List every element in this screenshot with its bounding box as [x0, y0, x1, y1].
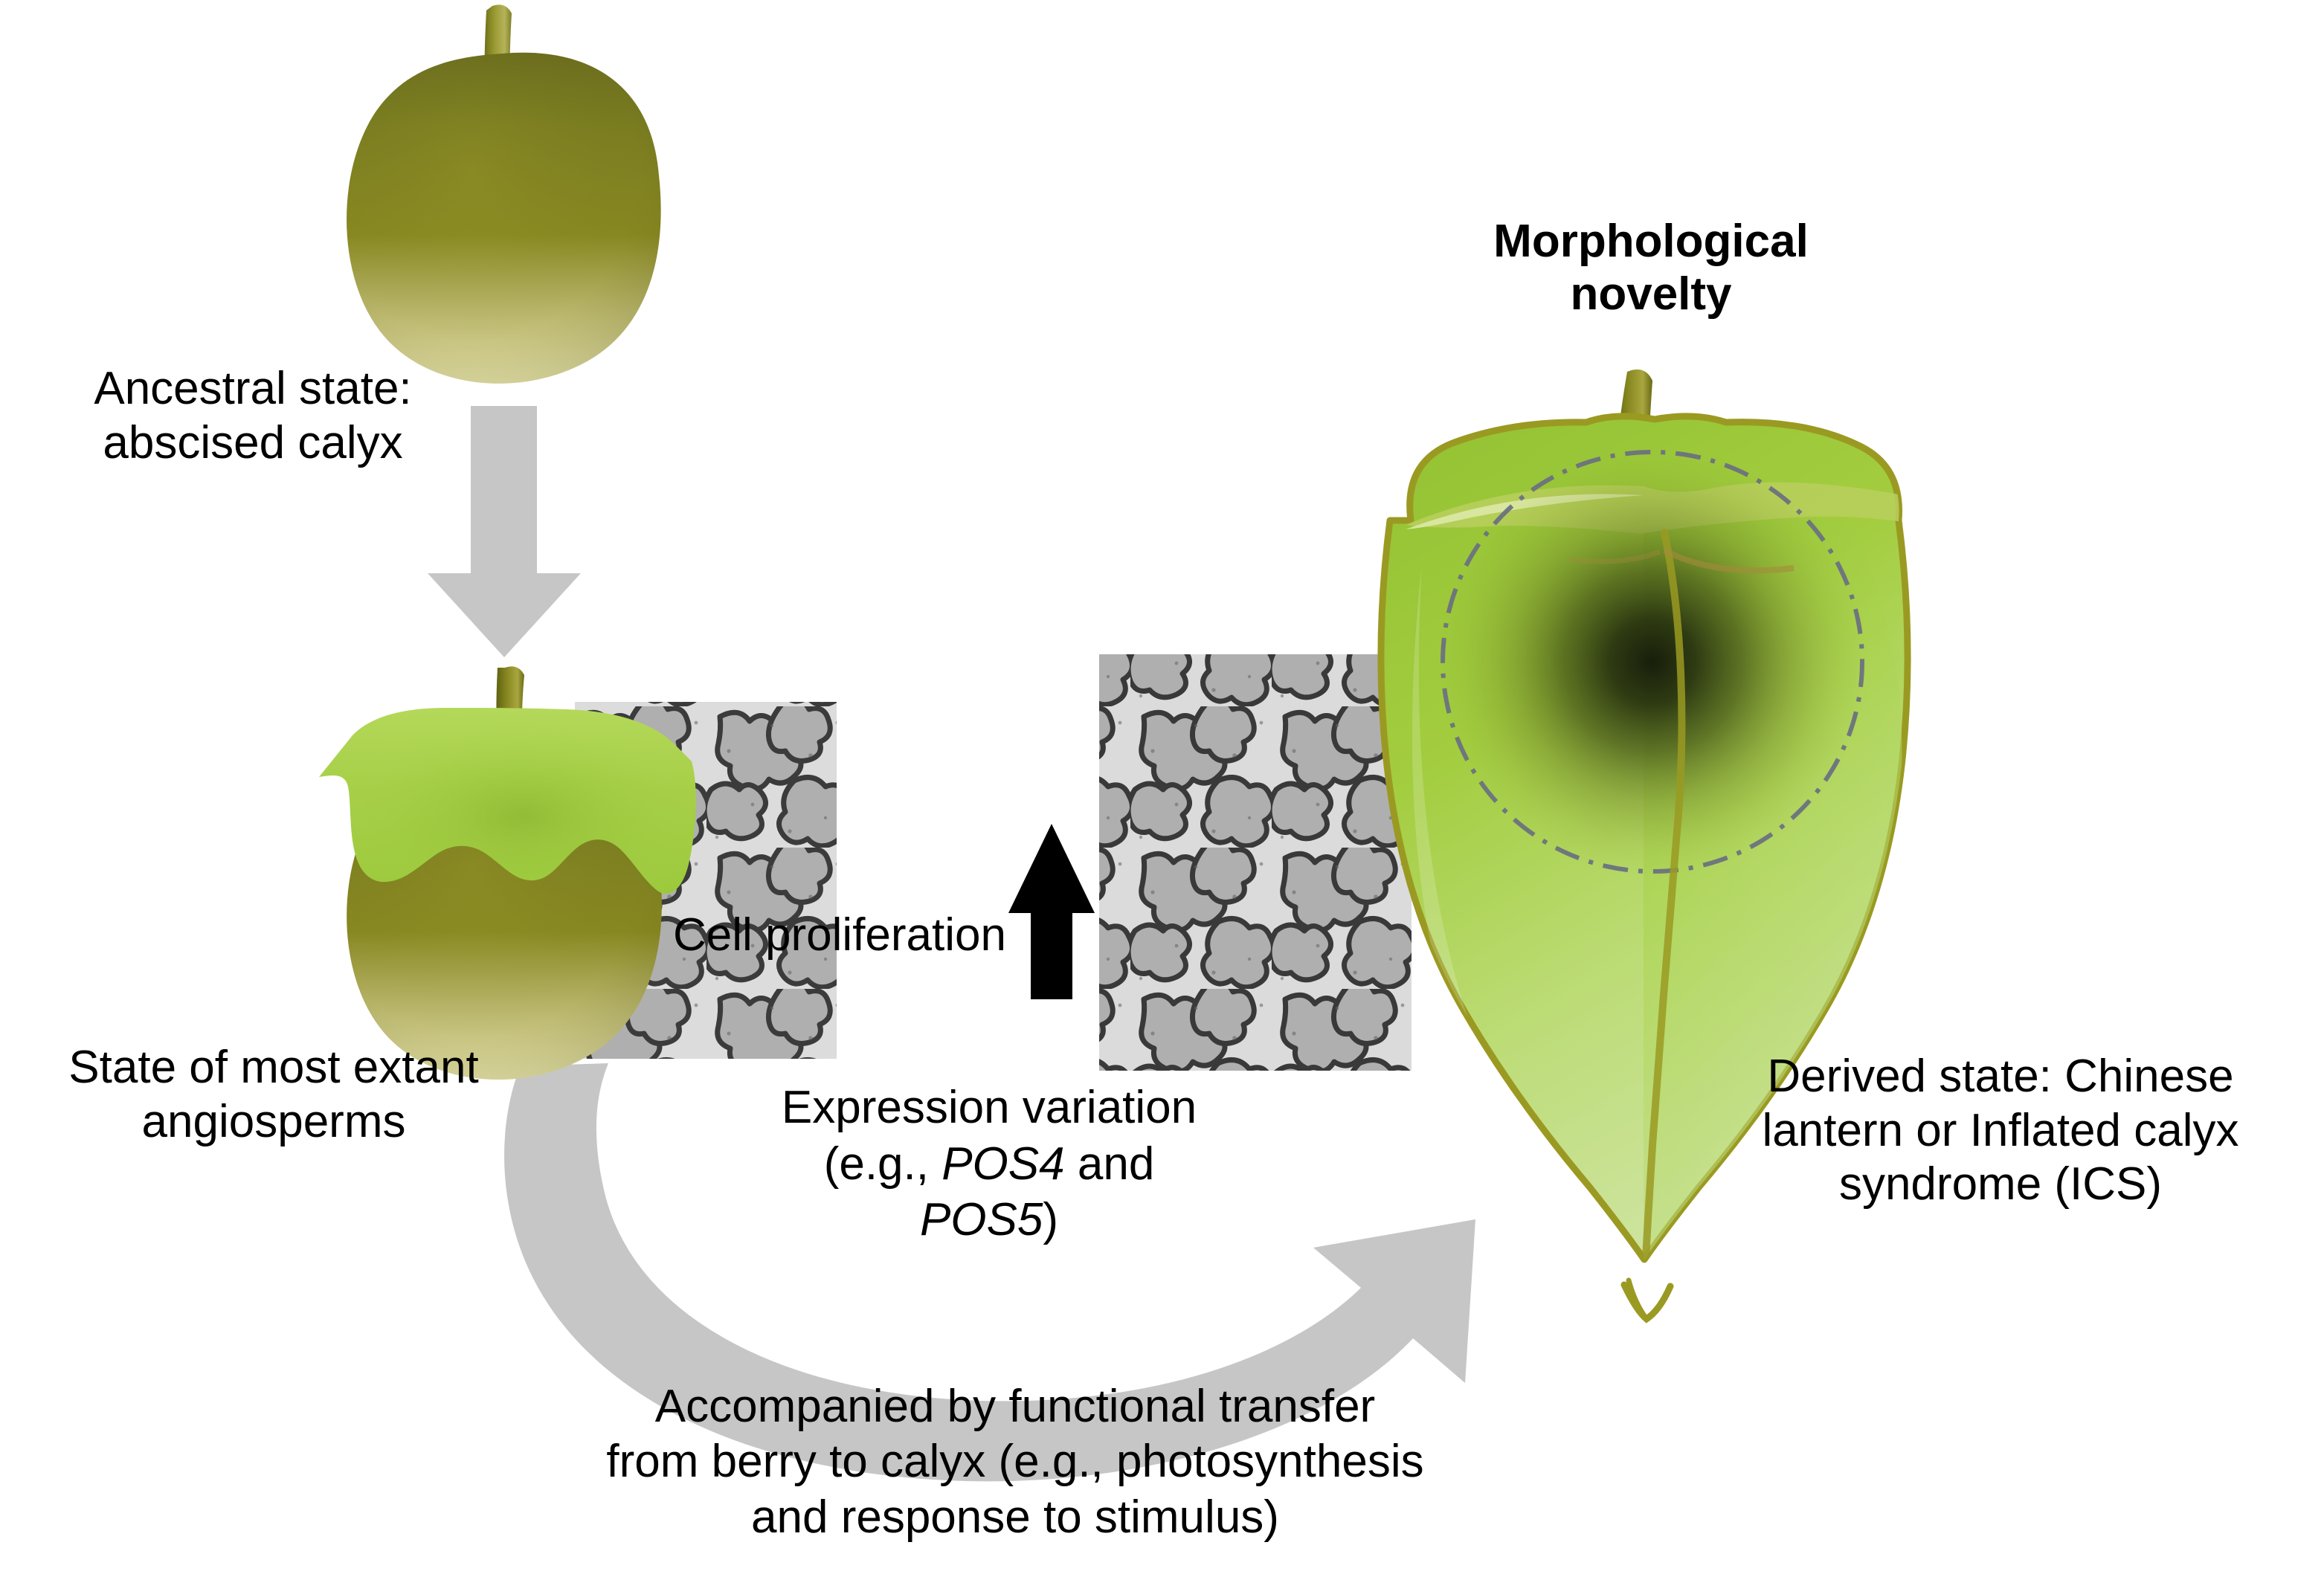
expression-variation-prefix: (e.g., [824, 1138, 942, 1190]
label-derived-state: Derived state: Chinese lantern or Inflat… [1733, 1050, 2268, 1212]
expression-variation-conjunction: and [1065, 1138, 1155, 1190]
gene-name-pos5: POS5 [920, 1194, 1043, 1245]
diagram-graphics [0, 0, 2324, 1577]
ancestral-berry [347, 4, 661, 384]
label-extant-state: State of most extant angiosperms [13, 1041, 534, 1149]
label-functional-transfer: Accompanied by functional transfer from … [554, 1379, 1476, 1545]
label-cell-proliferation: Cell proliferation [673, 909, 1045, 963]
gene-name-pos4: POS4 [941, 1138, 1064, 1190]
expression-variation-line1: Expression variation [782, 1082, 1197, 1133]
expression-variation-suffix: ) [1043, 1194, 1058, 1245]
label-expression-variation: Expression variation(e.g., POS4 andPOS5) [759, 1080, 1220, 1248]
micrograph-panel-right [1099, 654, 1412, 1071]
label-ancestral-state: Ancestral state: abscised calyx [45, 362, 461, 470]
figure-canvas: Ancestral state: abscised calyx State of… [0, 0, 2324, 1577]
label-morphological-novelty: Morphological novelty [1413, 216, 1889, 320]
